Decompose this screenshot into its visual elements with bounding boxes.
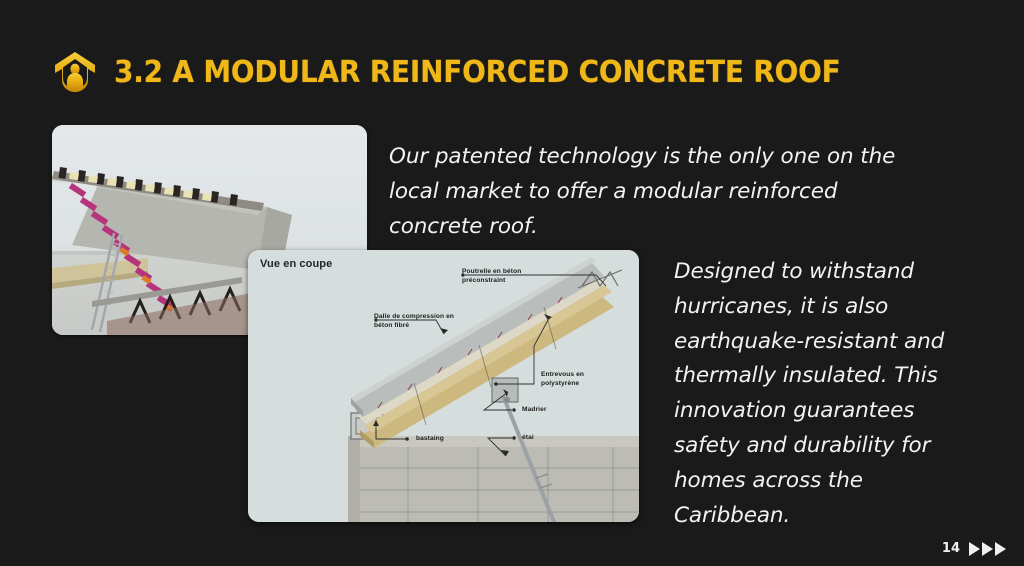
label-etai: étai [522,433,534,442]
intro-paragraph: Our patented technology is the only one … [389,140,934,244]
page-title: 3.2 A MODULAR REINFORCED CONCRETE ROOF [114,55,841,90]
slide-header: 3.2 A MODULAR REINFORCED CONCRETE ROOF [52,50,895,94]
play-forward-icon[interactable] [969,542,980,556]
label-bastaing: bastaing [416,434,444,443]
label-poutrelle: Poutrelle en béton préconstraint [462,267,521,285]
page-number: 14 [942,541,960,556]
presentation-slide: 3.2 A MODULAR REINFORCED CONCRETE ROOF [0,0,1024,566]
nav-arrows[interactable] [969,542,1006,556]
slide-footer: 14 [942,541,1006,556]
diagram-title: Vue en coupe [260,258,332,270]
benefits-paragraph: Designed to withstand hurricanes, it is … [674,255,974,534]
label-madrier: Madrier [522,405,547,414]
roof-cross-section-diagram[interactable]: Vue en coupe Poutrelle en béton préconst… [248,250,639,522]
play-forward-icon[interactable] [995,542,1006,556]
house-roof-emblem-icon [52,50,98,94]
label-entrevous: Entrevous en polystyrène [541,370,584,388]
label-dalle-de-compression: Dalle de compression en béton fibré [374,312,454,330]
play-forward-icon[interactable] [982,542,993,556]
